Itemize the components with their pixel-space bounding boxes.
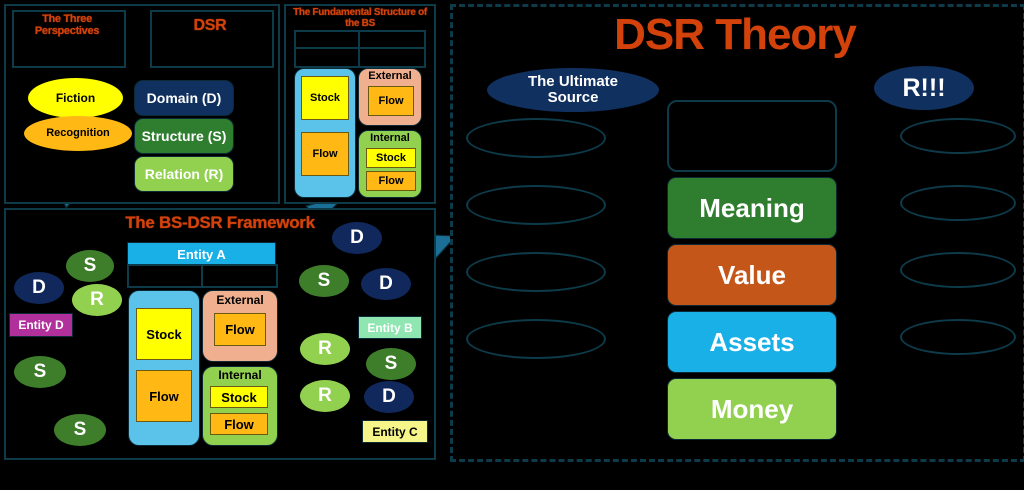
marker-d-4[interactable]: D <box>332 222 382 254</box>
title-three-perspectives: The Three Perspectives <box>12 14 122 37</box>
structure-table-cell-4 <box>358 47 426 68</box>
structure-stock-left[interactable]: Stock <box>301 76 349 120</box>
framework-table-cell-1 <box>127 264 205 288</box>
structure-external-flow[interactable]: Flow <box>368 86 414 116</box>
stack-item-value[interactable]: Value <box>667 244 837 306</box>
marker-d-2[interactable]: D <box>361 268 411 300</box>
bubble-right-1[interactable] <box>900 118 1016 154</box>
panel-three-perspectives: The Three Perspectives DSR Fiction Recog… <box>4 4 280 204</box>
structure-internal-flow[interactable]: Flow <box>366 171 416 191</box>
stack-item-meaning[interactable]: Meaning <box>667 177 837 239</box>
bubble-left-4[interactable] <box>466 319 606 359</box>
box-structure[interactable]: Structure (S) <box>134 118 234 154</box>
framework-flow-left[interactable]: Flow <box>136 370 192 422</box>
bubble-right-2[interactable] <box>900 185 1016 221</box>
structure-external-label: External <box>358 70 422 82</box>
marker-r-3[interactable]: R <box>300 380 350 412</box>
box-relation[interactable]: Relation (R) <box>134 156 234 192</box>
marker-s-2[interactable]: S <box>14 356 66 388</box>
bubble-left-3[interactable] <box>466 252 606 292</box>
marker-s-5[interactable]: S <box>366 348 416 380</box>
structure-table-cell-3 <box>294 47 362 68</box>
marker-s-4[interactable]: S <box>299 265 349 297</box>
callout-ultimate-source[interactable]: The Ultimate Source <box>487 68 659 112</box>
framework-external-label: External <box>202 293 278 307</box>
framework-internal-flow[interactable]: Flow <box>210 413 268 435</box>
framework-external-flow[interactable]: Flow <box>214 313 266 346</box>
marker-r-2[interactable]: R <box>300 333 350 365</box>
stack-item-assets[interactable]: Assets <box>667 311 837 373</box>
title-dsr: DSR <box>150 18 270 35</box>
diagram-canvas: The Three Perspectives DSR Fiction Recog… <box>0 0 1024 490</box>
panel-fundamental-structure: The Fundamental Structure of the BS Stoc… <box>284 4 436 204</box>
callout-fiction[interactable]: Fiction <box>28 78 123 118</box>
stack-item-empty[interactable] <box>667 100 837 172</box>
structure-internal-label: Internal <box>358 132 422 144</box>
callout-r-badge[interactable]: R!!! <box>874 66 974 110</box>
framework-internal-stock[interactable]: Stock <box>210 386 268 408</box>
bubble-left-1[interactable] <box>466 118 606 158</box>
entity-b[interactable]: Entity B <box>358 316 422 339</box>
stack-item-money[interactable]: Money <box>667 378 837 440</box>
marker-s-3[interactable]: S <box>54 414 106 446</box>
callout-recognition[interactable]: Recognition <box>24 116 132 151</box>
bubble-left-2[interactable] <box>466 185 606 225</box>
title-fundamental-structure: The Fundamental Structure of the BS <box>286 8 434 29</box>
bubble-right-4[interactable] <box>900 319 1016 355</box>
framework-stock-left[interactable]: Stock <box>136 308 192 360</box>
entity-c[interactable]: Entity C <box>362 420 428 443</box>
framework-table-cell-2 <box>201 264 278 288</box>
structure-internal-stock[interactable]: Stock <box>366 148 416 168</box>
title-dsr-theory: DSR Theory <box>450 10 1020 60</box>
box-domain[interactable]: Domain (D) <box>134 80 234 116</box>
marker-d-1[interactable]: D <box>14 272 64 304</box>
marker-s-1[interactable]: S <box>66 250 114 282</box>
framework-internal-label: Internal <box>202 368 278 382</box>
entity-a-header[interactable]: Entity A <box>127 242 276 266</box>
marker-d-3[interactable]: D <box>364 381 414 413</box>
bubble-right-3[interactable] <box>900 252 1016 288</box>
structure-flow-left[interactable]: Flow <box>301 132 349 176</box>
entity-d[interactable]: Entity D <box>9 313 73 337</box>
marker-r-1[interactable]: R <box>72 284 122 316</box>
